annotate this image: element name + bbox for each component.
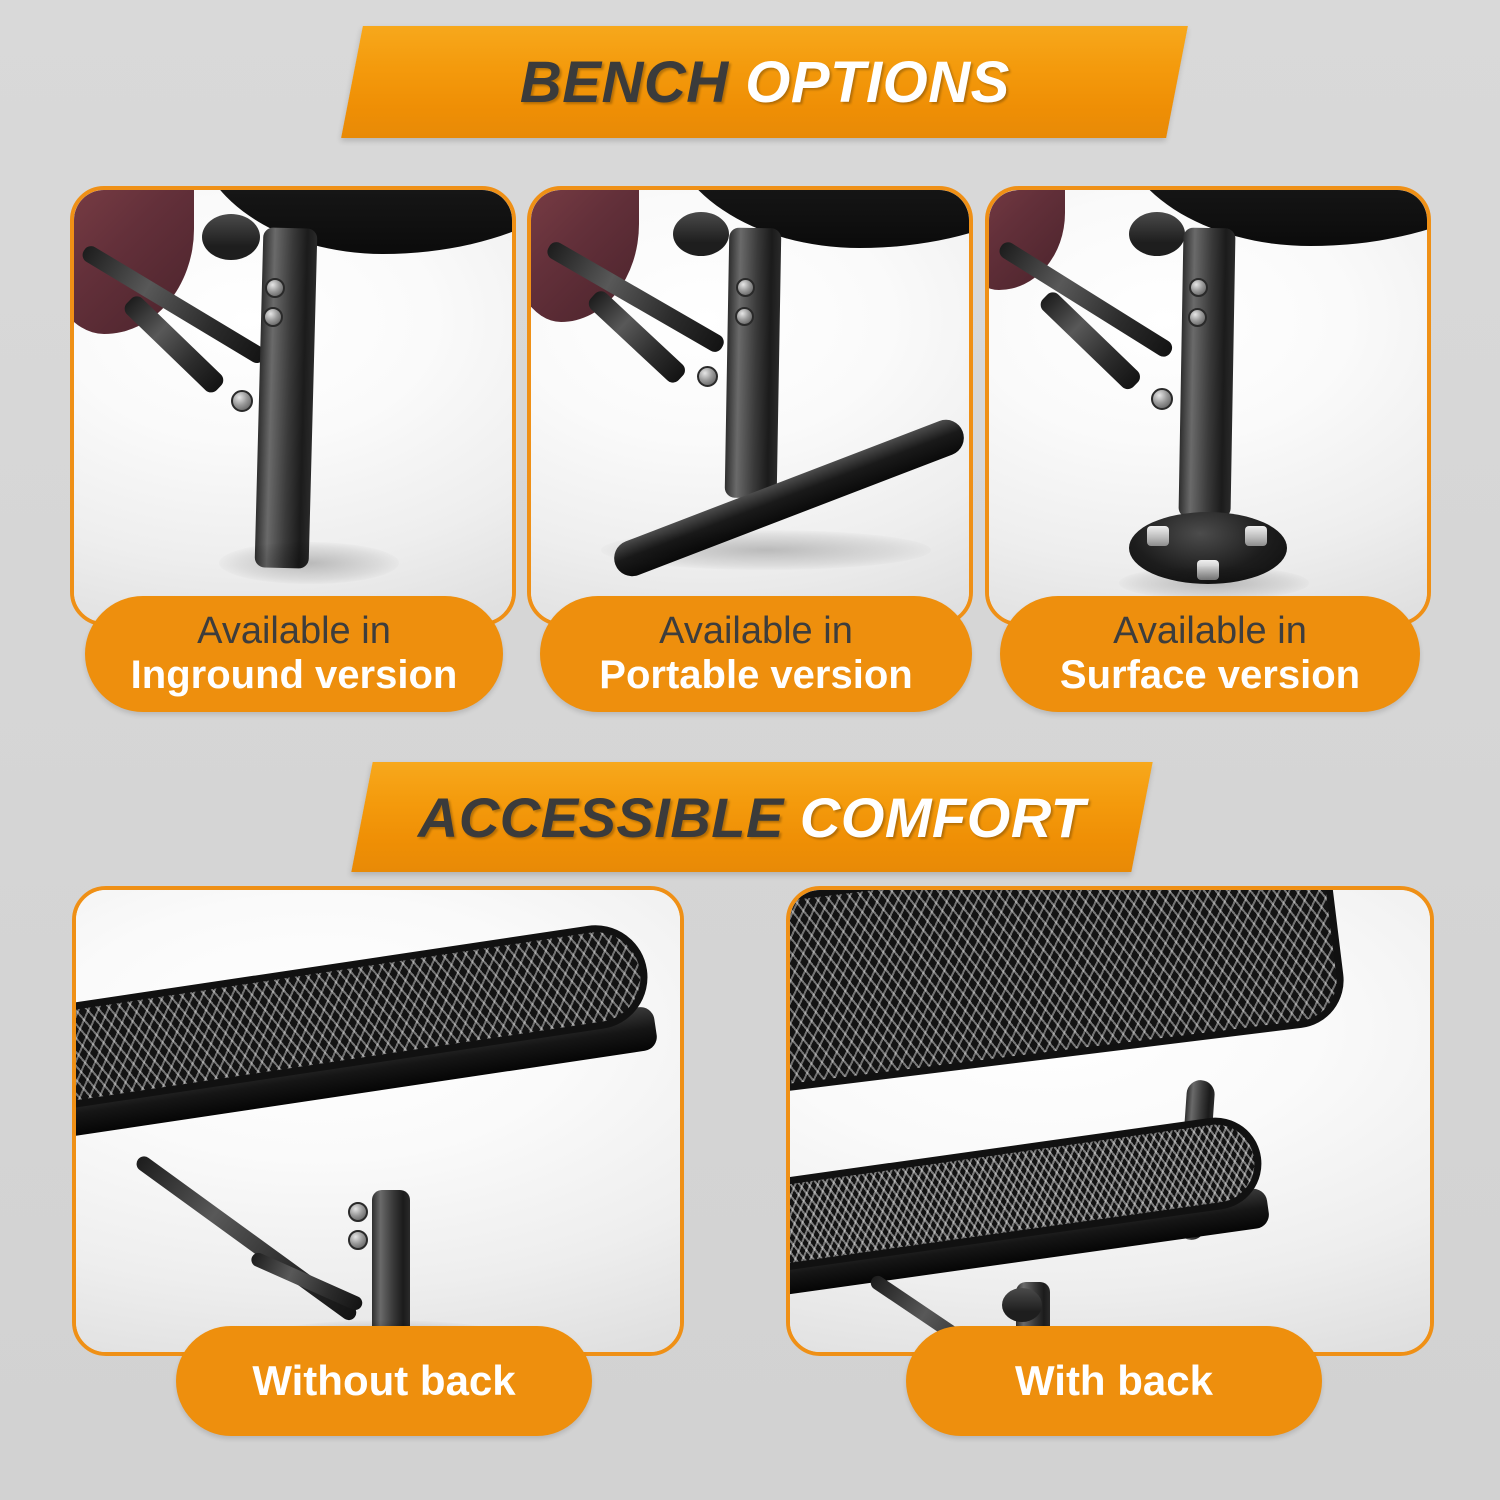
- bench-without-backrest-icon: [76, 890, 680, 1352]
- banner-text: ACCESSIBLE COMFORT: [418, 785, 1086, 850]
- pill-label: Without back: [252, 1357, 515, 1404]
- banner-text: BENCH OPTIONS: [520, 49, 1010, 116]
- pill-with-back: With back: [906, 1326, 1322, 1436]
- pill-without-back: Without back: [176, 1326, 592, 1436]
- pill-label: With back: [1015, 1357, 1213, 1404]
- pill-line-2: Surface version: [1060, 653, 1360, 698]
- bench-leg-portable-icon: [531, 190, 969, 622]
- pill-line-2: Inground version: [131, 653, 458, 698]
- card-without-back[interactable]: [72, 886, 684, 1356]
- banner-light-word: OPTIONS: [745, 50, 1010, 115]
- infographic-page: BENCH OPTIONS Available in Inground vers…: [0, 0, 1500, 1500]
- pill-line-1: Available in: [659, 610, 853, 653]
- bench-leg-inground-icon: [74, 190, 512, 622]
- pill-line-1: Available in: [1113, 610, 1307, 653]
- banner-dark-word: ACCESSIBLE: [418, 786, 800, 849]
- pill-line-2: Portable version: [599, 653, 912, 698]
- card-surface[interactable]: [985, 186, 1431, 626]
- card-with-back[interactable]: [786, 886, 1434, 1356]
- section-banner-bench-options: BENCH OPTIONS: [341, 26, 1188, 138]
- section-banner-accessible-comfort: ACCESSIBLE COMFORT: [351, 762, 1152, 872]
- pill-portable: Available in Portable version: [540, 596, 972, 712]
- card-portable[interactable]: [527, 186, 973, 626]
- card-inground[interactable]: [70, 186, 516, 626]
- pill-line-1: Available in: [197, 610, 391, 653]
- bench-with-backrest-icon: [790, 890, 1430, 1352]
- pill-inground: Available in Inground version: [85, 596, 503, 712]
- banner-dark-word: BENCH: [520, 50, 745, 115]
- pill-surface: Available in Surface version: [1000, 596, 1420, 712]
- bench-leg-surface-mount-icon: [989, 190, 1427, 622]
- banner-light-word: COMFORT: [800, 786, 1086, 849]
